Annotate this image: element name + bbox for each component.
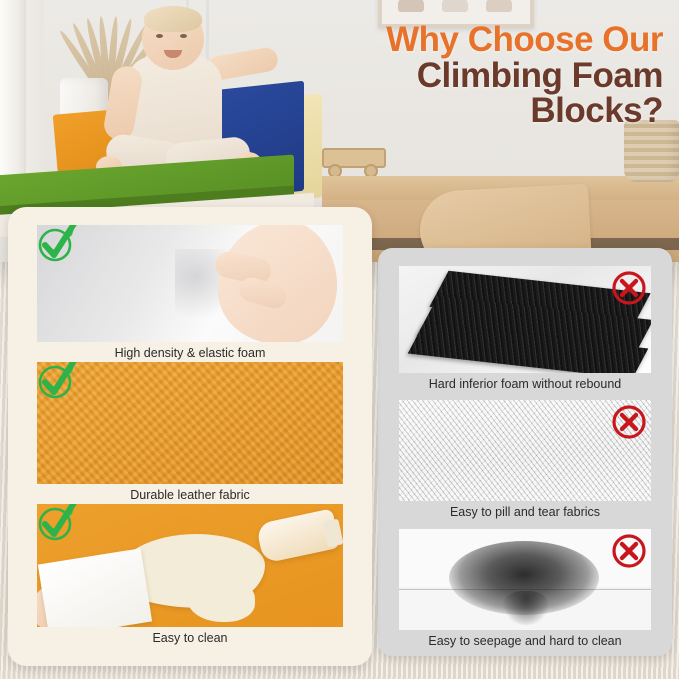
- headline-line-2: Climbing Foam: [386, 58, 663, 94]
- leather-fabric-photo: [37, 362, 343, 484]
- picture-illustration-icon: [486, 0, 512, 12]
- headline-line-1: Why Choose Our: [386, 22, 663, 58]
- pilled-fabric-photo: [399, 400, 651, 501]
- advantage-card: High density & elastic foam: [37, 225, 343, 360]
- hard-foam-photo: [399, 266, 651, 373]
- picture-illustration-icon: [398, 0, 424, 12]
- picture-illustration-icon: [442, 0, 468, 12]
- cross-icon: [609, 402, 649, 442]
- cross-icon: [609, 531, 649, 571]
- advantages-panel: High density & elastic foam Durable leat…: [8, 207, 372, 666]
- product-infographic: Why Choose Our Climbing Foam Blocks? Har…: [0, 0, 679, 679]
- headline-line-3: Blocks?: [386, 93, 663, 129]
- disadvantage-caption: Hard inferior foam without rebound: [399, 377, 651, 391]
- seepage-stain-photo: [399, 529, 651, 630]
- disadvantage-card: Hard inferior foam without rebound: [399, 266, 651, 391]
- check-icon: [37, 225, 85, 267]
- elastic-foam-photo: [37, 225, 343, 342]
- disadvantage-caption: Easy to pill and tear fabrics: [399, 505, 651, 519]
- check-icon: [37, 504, 85, 546]
- disadvantages-panel: Hard inferior foam without rebound Easy …: [378, 248, 672, 656]
- disadvantage-card: Easy to seepage and hard to clean: [399, 529, 651, 648]
- disadvantage-caption: Easy to seepage and hard to clean: [399, 634, 651, 648]
- advantage-caption: High density & elastic foam: [37, 346, 343, 360]
- easy-clean-photo: [37, 504, 343, 627]
- advantage-caption: Durable leather fabric: [37, 488, 343, 502]
- disadvantage-card: Easy to pill and tear fabrics: [399, 400, 651, 519]
- check-icon: [37, 362, 85, 404]
- headline: Why Choose Our Climbing Foam Blocks?: [386, 22, 663, 129]
- advantage-caption: Easy to clean: [37, 631, 343, 645]
- advantage-card: Durable leather fabric: [37, 362, 343, 502]
- advantage-card: Easy to clean: [37, 504, 343, 645]
